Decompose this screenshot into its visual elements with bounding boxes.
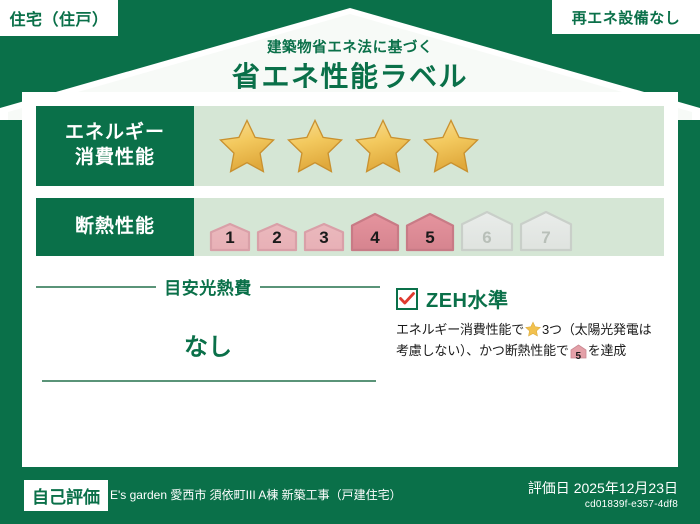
energy-performance-label: エネルギー 消費性能: [36, 106, 194, 186]
zeh-desc-part3: を達成: [588, 343, 626, 358]
zeh-desc-part1: エネルギー消費性能で: [396, 322, 524, 337]
house-icon-inline-number: 5: [570, 349, 587, 366]
star-icon: [218, 117, 276, 175]
check-icon: [399, 292, 415, 305]
insulation-level-4: 4: [349, 212, 401, 252]
star-rating: [218, 117, 480, 175]
energy-performance-row: エネルギー 消費性能: [36, 106, 664, 186]
chip-renewable-equipment: 再エネ設備なし: [552, 0, 700, 34]
insulation-level-number: 5: [404, 228, 456, 248]
title-main: 省エネ性能ラベル: [0, 59, 700, 94]
insulation-level-number: 2: [255, 228, 299, 248]
insulation-level-number: 3: [302, 228, 346, 248]
star-icon-inline: [525, 321, 541, 337]
utility-cost-block: 目安光熱費 なし: [36, 268, 380, 366]
energy-performance-value: [194, 106, 664, 186]
star-icon: [354, 117, 412, 175]
rule-right: [260, 286, 380, 288]
insulation-performance-row: 断熱性能 1234567: [36, 198, 664, 256]
star-icon: [422, 117, 480, 175]
insulation-level-6: 6: [459, 210, 515, 252]
insulation-level-number: 6: [459, 228, 515, 248]
lower-section: 目安光熱費 なし ZEH水準 エネルギー消費性能で3つ（太陽光発電は考慮しな: [36, 268, 664, 366]
insulation-level-number: 4: [349, 228, 401, 248]
insulation-performance-value: 1234567: [194, 198, 664, 256]
utility-cost-title: 目安光熱費: [164, 274, 252, 299]
star-icon: [286, 117, 344, 175]
zeh-desc-stars: 3つ（太陽光発電: [542, 322, 639, 337]
evaluation-id: cd01839f-e357-4df8: [528, 498, 678, 512]
chip-building-type: 住宅（住戸）: [0, 0, 118, 36]
zeh-checkbox[interactable]: [396, 288, 418, 310]
energy-label-root: 住宅（住戸） 再エネ設備なし 建築物省エネ法に基づく 省エネ性能ラベル エネルギ…: [0, 0, 700, 524]
utility-cost-value: なし: [36, 327, 380, 362]
insulation-level-5: 5: [404, 212, 456, 252]
utility-cost-header: 目安光熱費: [36, 274, 380, 299]
insulation-level-1: 1: [208, 222, 252, 252]
insulation-level-number: 1: [208, 228, 252, 248]
energy-performance-label-line2: 消費性能: [75, 146, 155, 171]
zeh-block: ZEH水準 エネルギー消費性能で3つ（太陽光発電は考慮しない）、かつ断熱性能で5…: [380, 268, 664, 366]
zeh-header: ZEH水準: [396, 284, 664, 313]
insulation-level-3: 3: [302, 222, 346, 252]
label-card: エネルギー 消費性能 断熱性能 1234567 目安光熱費 なし: [22, 92, 678, 467]
evaluation-date: 評価日 2025年12月23日: [528, 479, 678, 497]
label-footer: 自己評価 E's garden 愛西市 須依町III A棟 新築工事（戸建住宅）…: [0, 467, 700, 524]
footer-right-group: 評価日 2025年12月23日 cd01839f-e357-4df8: [528, 479, 678, 511]
insulation-scale: 1234567: [208, 210, 574, 252]
zeh-description: エネルギー消費性能で3つ（太陽光発電は考慮しない）、かつ断熱性能で5を達成: [396, 319, 664, 366]
insulation-performance-label: 断熱性能: [36, 198, 194, 256]
title-subtitle: 建築物省エネ法に基づく: [0, 40, 700, 57]
insulation-level-2: 2: [255, 222, 299, 252]
rule-left: [36, 286, 156, 288]
insulation-level-7: 7: [518, 210, 574, 252]
zeh-title: ZEH水準: [426, 284, 509, 313]
energy-performance-label-line1: エネルギー: [65, 121, 165, 146]
project-name: E's garden 愛西市 須依町III A棟 新築工事（戸建住宅）: [110, 487, 400, 503]
insulation-level-number: 7: [518, 228, 574, 248]
evaluation-type-badge: 自己評価: [24, 480, 108, 511]
label-title-group: 建築物省エネ法に基づく 省エネ性能ラベル: [0, 40, 700, 94]
house-icon-inline: 5: [570, 344, 587, 365]
utility-cost-bottom-rule: [42, 380, 376, 382]
